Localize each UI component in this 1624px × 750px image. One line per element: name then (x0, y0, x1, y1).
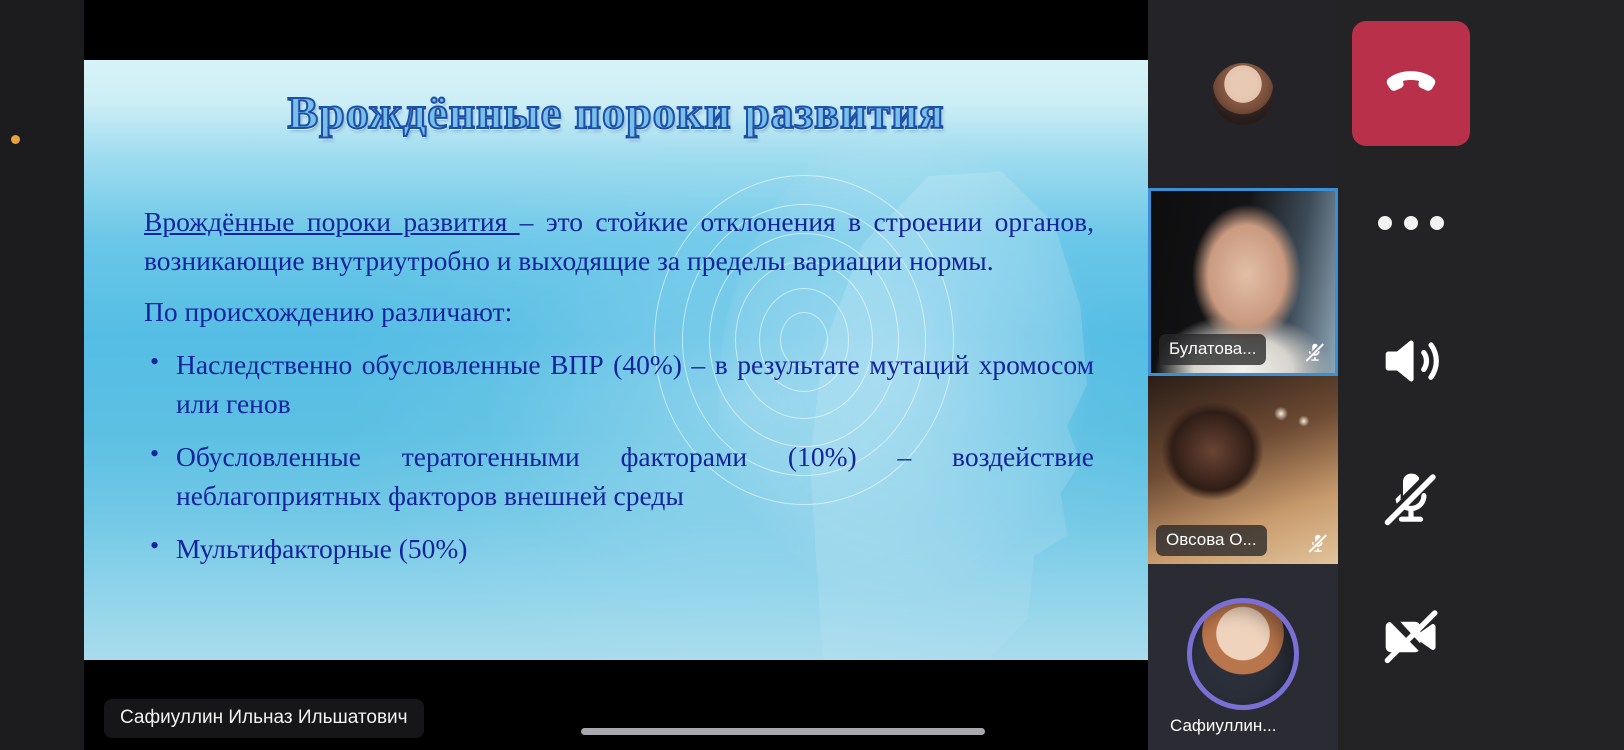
list-item: Наследственно обусловленные ВПР (40%) – … (144, 345, 1094, 423)
participant-tile[interactable] (1148, 0, 1338, 188)
microphone-button[interactable] (1352, 448, 1470, 554)
participant-name: Сафиуллин... (1160, 711, 1286, 742)
microphone-off-icon (1304, 341, 1326, 363)
participant-tile[interactable]: Овсова О... (1148, 376, 1338, 564)
left-gutter (0, 0, 84, 750)
microphone-off-icon (1307, 532, 1329, 554)
notification-dot (11, 135, 20, 144)
more-options-icon (1378, 216, 1444, 230)
slide-body: Врождённые пороки развития – это стойкие… (144, 202, 1094, 582)
speaker-icon (1380, 330, 1442, 397)
presentation-slide: Врождённые пороки развития Врождённые по… (84, 60, 1148, 660)
list-item: Обусловленные тератогенными факторами (1… (144, 437, 1094, 515)
participant-tile[interactable]: Булатова... (1148, 188, 1338, 376)
slide-definition-paragraph: Врождённые пороки развития – это стойкие… (144, 202, 1094, 280)
list-item: Мультифакторные (50%) (144, 529, 1094, 568)
screen-share-stage[interactable]: Врождённые пороки развития Врождённые по… (84, 0, 1148, 750)
avatar (1187, 598, 1299, 710)
speaker-button[interactable] (1352, 310, 1470, 416)
more-options-button[interactable] (1352, 170, 1470, 276)
participant-name: Булатова... (1159, 334, 1266, 365)
share-scrollbar[interactable] (581, 728, 985, 735)
camera-button[interactable] (1352, 586, 1470, 692)
participant-filmstrip: Булатова... Овсова О... (1148, 0, 1338, 750)
control-rail (1338, 0, 1624, 750)
presenter-name-label: Сафиуллин Ильназ Ильшатович (104, 699, 424, 738)
camera-off-icon (1380, 606, 1442, 673)
hangup-button[interactable] (1352, 21, 1470, 146)
video-call-window: Врождённые пороки развития Врождённые по… (0, 0, 1624, 750)
slide-intro-line: По происхождению различают: (144, 292, 1094, 331)
participant-name: Овсова О... (1156, 525, 1267, 556)
participant-tile[interactable]: Сафиуллин... (1148, 564, 1338, 750)
avatar (1212, 63, 1274, 125)
slide-bullet-list: Наследственно обусловленные ВПР (40%) – … (144, 345, 1094, 568)
microphone-off-icon (1380, 468, 1442, 535)
phone-hangup-icon (1380, 50, 1442, 117)
slide-term: Врождённые пороки развития (144, 206, 520, 237)
slide-title: Врождённые пороки развития (84, 86, 1148, 139)
